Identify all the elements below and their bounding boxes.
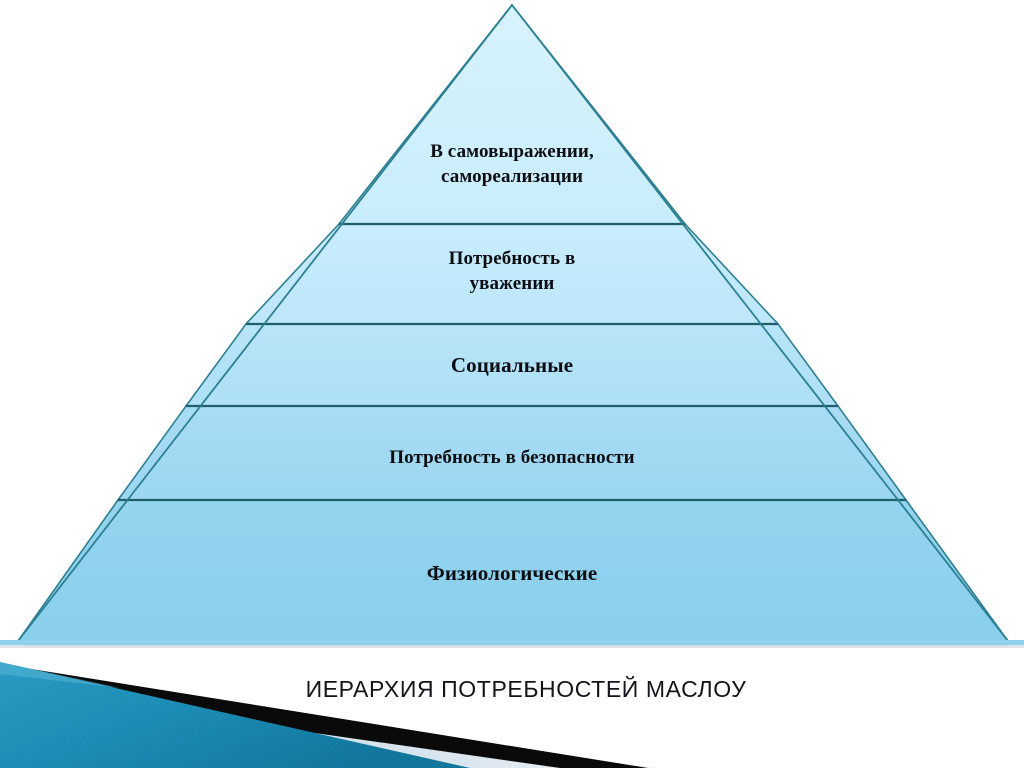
- footer-band-shade: [0, 645, 1024, 648]
- tier-label-esteem: Потребность в уважении: [0, 246, 1024, 296]
- footer-decoration-graphic: [0, 640, 1024, 768]
- tier-label-layer: В самовыражении, самореализации Потребно…: [0, 0, 1024, 660]
- tier-label-physiological: Физиологические: [0, 561, 1024, 587]
- footer-decoration: [0, 640, 1024, 768]
- slide-canvas: В самовыражении, самореализации Потребно…: [0, 0, 1024, 768]
- tier-label-safety: Потребность в безопасности: [0, 446, 1024, 469]
- footer-band: [0, 640, 1024, 645]
- maslow-pyramid: В самовыражении, самореализации Потребно…: [0, 0, 1024, 660]
- footer-title: ИЕРАРХИЯ ПОТРЕБНОСТЕЙ МАСЛОУ: [0, 676, 1024, 703]
- tier-label-social: Социальные: [0, 353, 1024, 379]
- tier-label-self-actualization: В самовыражении, самореализации: [0, 139, 1024, 189]
